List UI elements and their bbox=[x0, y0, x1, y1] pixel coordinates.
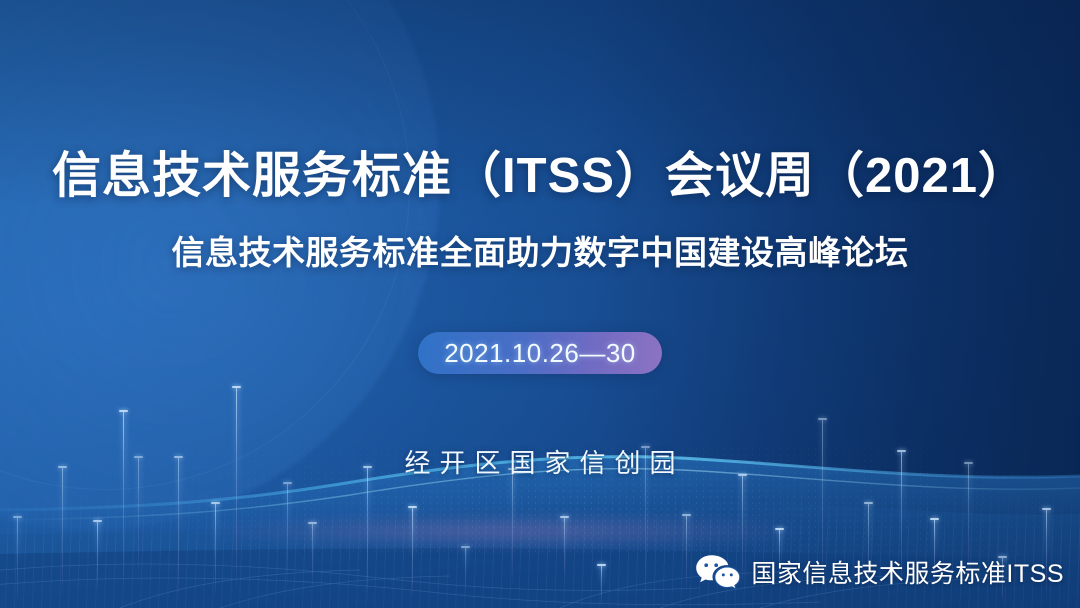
date-badge: 2021.10.26—30 bbox=[418, 332, 662, 374]
venue-label: 经开区国家信创园 bbox=[0, 446, 1080, 480]
poster-content: 信息技术服务标准（ITSS）会议周（2021） 信息技术服务标准全面助力数字中国… bbox=[0, 0, 1080, 608]
page-title: 信息技术服务标准（ITSS）会议周（2021） bbox=[0, 146, 1080, 206]
wechat-icon bbox=[695, 554, 741, 590]
date-badge-label: 2021.10.26—30 bbox=[444, 338, 636, 369]
wechat-account-name: 国家信息技术服务标准ITSS bbox=[751, 554, 1064, 590]
wechat-watermark: 国家信息技术服务标准ITSS bbox=[695, 554, 1064, 590]
conference-poster: 信息技术服务标准（ITSS）会议周（2021） 信息技术服务标准全面助力数字中国… bbox=[0, 0, 1080, 608]
poster-subtitle: 信息技术服务标准全面助力数字中国建设高峰论坛 bbox=[0, 232, 1080, 274]
